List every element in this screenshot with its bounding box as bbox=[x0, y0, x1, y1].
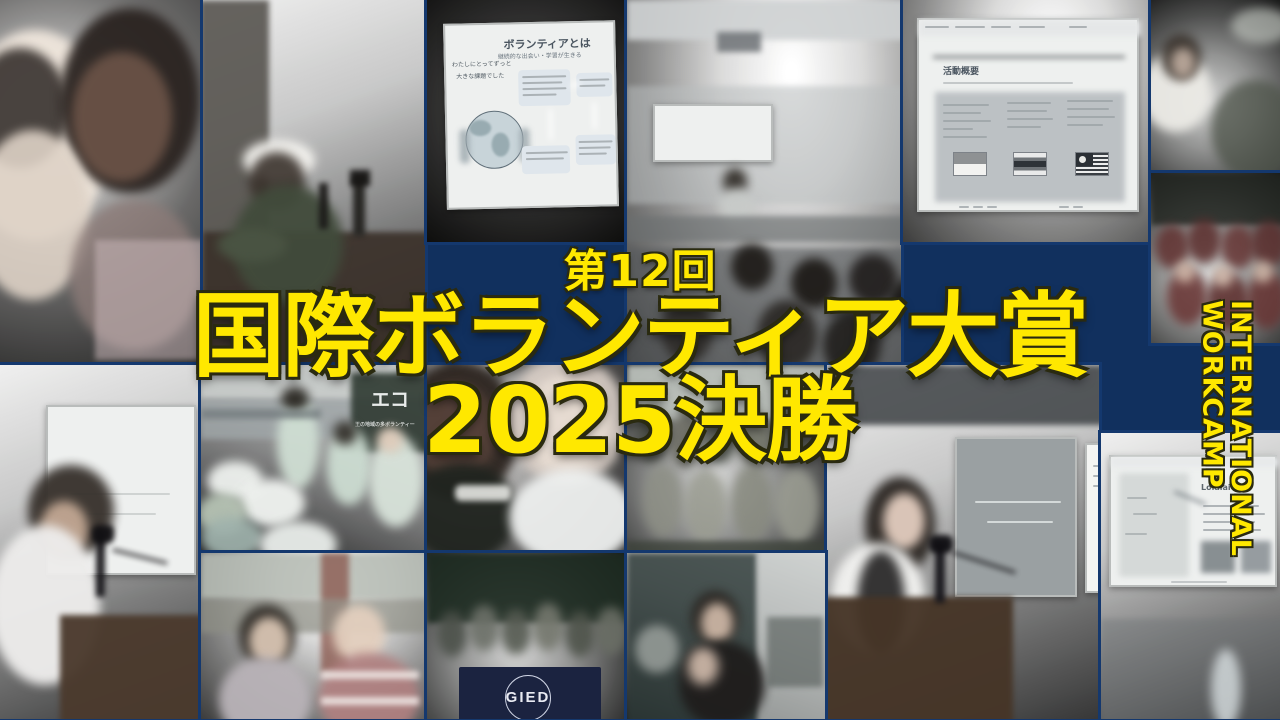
slide-side-note-1: わたしにとってずっと bbox=[452, 58, 512, 68]
group-celebration-photo bbox=[1148, 170, 1280, 346]
workshop-pair-photo bbox=[624, 550, 828, 720]
country-flags-slide: 活動概要 bbox=[900, 0, 1152, 245]
two-participants-photo bbox=[198, 550, 428, 720]
slide-side-note-2: 大きな課題でした bbox=[456, 71, 504, 81]
poster-canvas: ボランティアとは 継続的な出会い・学習が生きる わたしにとってずっと 大きな課題… bbox=[0, 0, 1280, 720]
children-portrait-photo bbox=[424, 362, 628, 554]
photo-mosaic: ボランティアとは 継続的な出会い・学習が生きる わたしにとってずっと 大きな課題… bbox=[0, 0, 1280, 720]
slide-bubble bbox=[575, 134, 616, 165]
field-work-portrait-photo bbox=[1148, 0, 1280, 173]
volunteer-definition-slide: ボランティアとは 継続的な出会い・学習が生きる わたしにとってずっと 大きな課題… bbox=[424, 0, 628, 245]
region-map-slide: Lolalai bbox=[1098, 430, 1280, 720]
community-group-photo bbox=[624, 362, 828, 554]
lecture-hall-audience-photo bbox=[624, 0, 904, 365]
flag-thailand bbox=[1013, 152, 1047, 176]
presenter-with-cap-photo bbox=[200, 0, 428, 365]
podium-speaker-right-photo bbox=[824, 362, 1102, 720]
podium-speaker-left-photo bbox=[0, 362, 203, 720]
volunteer-with-child-photo bbox=[0, 0, 203, 365]
eco-booth-volunteers-photo: エコ 王の地域の多ボランティー bbox=[198, 362, 428, 554]
flags-slide-heading: 活動概要 bbox=[943, 64, 979, 77]
map-place-label: Lolalai bbox=[1201, 483, 1231, 492]
eco-sign-text: エコ bbox=[371, 385, 409, 412]
gied-banner-group-photo: GIED bbox=[424, 550, 628, 720]
flag-indonesia bbox=[953, 152, 987, 176]
gied-label: GIED bbox=[505, 689, 551, 706]
flag-malaysia bbox=[1075, 152, 1109, 176]
